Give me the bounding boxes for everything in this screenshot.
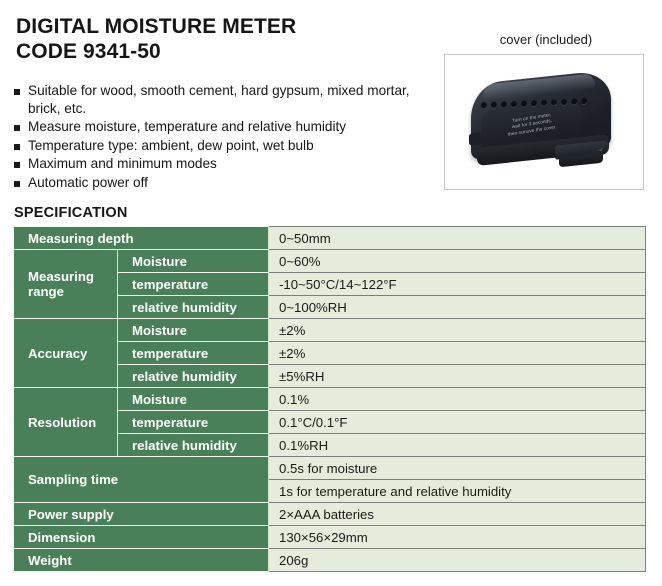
moisture-meter-cover-illustration: Turn on the meter, wait for 3 seconds, t… (463, 73, 623, 173)
feature-text: Temperature type: ambient, dew point, we… (28, 137, 314, 155)
row-label-power-supply: Power supply (14, 503, 269, 526)
product-image-frame: Turn on the meter, wait for 3 seconds, t… (444, 54, 644, 190)
table-row: Dimension 130×56×29mm (14, 526, 646, 549)
row-sublabel: relative humidity (118, 434, 269, 457)
feature-list: Suitable for wood, smooth cement, hard g… (14, 82, 444, 192)
row-label-sampling-time: Sampling time (14, 457, 269, 503)
square-bullet-icon (14, 125, 20, 131)
table-row: Power supply 2×AAA batteries (14, 503, 646, 526)
table-row: Weight 206g (14, 549, 646, 572)
row-value: 0~50mm (269, 227, 646, 250)
row-label-weight: Weight (14, 549, 269, 572)
row-value: 1s for temperature and relative humidity (269, 480, 646, 503)
page-title-line-2: CODE 9341-50 (16, 39, 436, 64)
row-value: -10~50°C/14~122°F (269, 273, 646, 296)
table-row: Measuring depth 0~50mm (14, 227, 646, 250)
row-value: 206g (269, 549, 646, 572)
table-row: Accuracy Moisture ±2% (14, 319, 646, 342)
row-sublabel: relative humidity (118, 365, 269, 388)
specification-heading: SPECIFICATION (14, 205, 128, 221)
row-value: 2×AAA batteries (269, 503, 646, 526)
row-label-accuracy: Accuracy (14, 319, 118, 388)
row-sublabel: Moisture (118, 319, 269, 342)
row-label-dimension: Dimension (14, 526, 269, 549)
row-sublabel: Moisture (118, 250, 269, 273)
row-value: ±2% (269, 319, 646, 342)
square-bullet-icon (14, 181, 20, 187)
row-value: 0~60% (269, 250, 646, 273)
product-image-panel: cover (included) Turn on the meter, (444, 32, 648, 190)
cover-left-notch (469, 132, 481, 145)
feature-text: Maximum and minimum modes (28, 155, 217, 173)
page-title: DIGITAL MOISTURE METER CODE 9341-50 (16, 14, 436, 64)
row-value: ±5%RH (269, 365, 646, 388)
row-value: 0.1% (269, 388, 646, 411)
square-bullet-icon (14, 89, 20, 95)
cover-tiny-mark: - o (597, 147, 602, 152)
row-value: 0.5s for moisture (269, 457, 646, 480)
specification-table: Measuring depth 0~50mm Measuring range M… (13, 226, 646, 572)
row-label-measuring-depth: Measuring depth (14, 227, 269, 250)
row-value: 130×56×29mm (269, 526, 646, 549)
table-row: Resolution Moisture 0.1% (14, 388, 646, 411)
row-sublabel: temperature (118, 411, 269, 434)
row-sublabel: relative humidity (118, 296, 269, 319)
square-bullet-icon (14, 162, 20, 168)
row-value: ±2% (269, 342, 646, 365)
page-title-line-1: DIGITAL MOISTURE METER (16, 14, 436, 39)
list-item: Maximum and minimum modes (14, 155, 444, 173)
row-sublabel: Moisture (118, 388, 269, 411)
row-sublabel: temperature (118, 273, 269, 296)
feature-text: Suitable for wood, smooth cement, hard g… (28, 82, 444, 117)
table-row: Sampling time 0.5s for moisture (14, 457, 646, 480)
list-item: Automatic power off (14, 174, 444, 192)
row-value: 0~100%RH (269, 296, 646, 319)
list-item: Suitable for wood, smooth cement, hard g… (14, 82, 444, 117)
product-image-caption: cover (included) (444, 32, 648, 48)
row-label-measuring-range: Measuring range (14, 250, 118, 319)
feature-text: Measure moisture, temperature and relati… (28, 118, 346, 136)
row-value: 0.1%RH (269, 434, 646, 457)
row-value: 0.1°C/0.1°F (269, 411, 646, 434)
list-item: Measure moisture, temperature and relati… (14, 118, 444, 136)
table-row: Measuring range Moisture 0~60% (14, 250, 646, 273)
list-item: Temperature type: ambient, dew point, we… (14, 137, 444, 155)
square-bullet-icon (14, 144, 20, 150)
feature-text: Automatic power off (28, 174, 148, 192)
row-label-resolution: Resolution (14, 388, 118, 457)
row-sublabel: temperature (118, 342, 269, 365)
